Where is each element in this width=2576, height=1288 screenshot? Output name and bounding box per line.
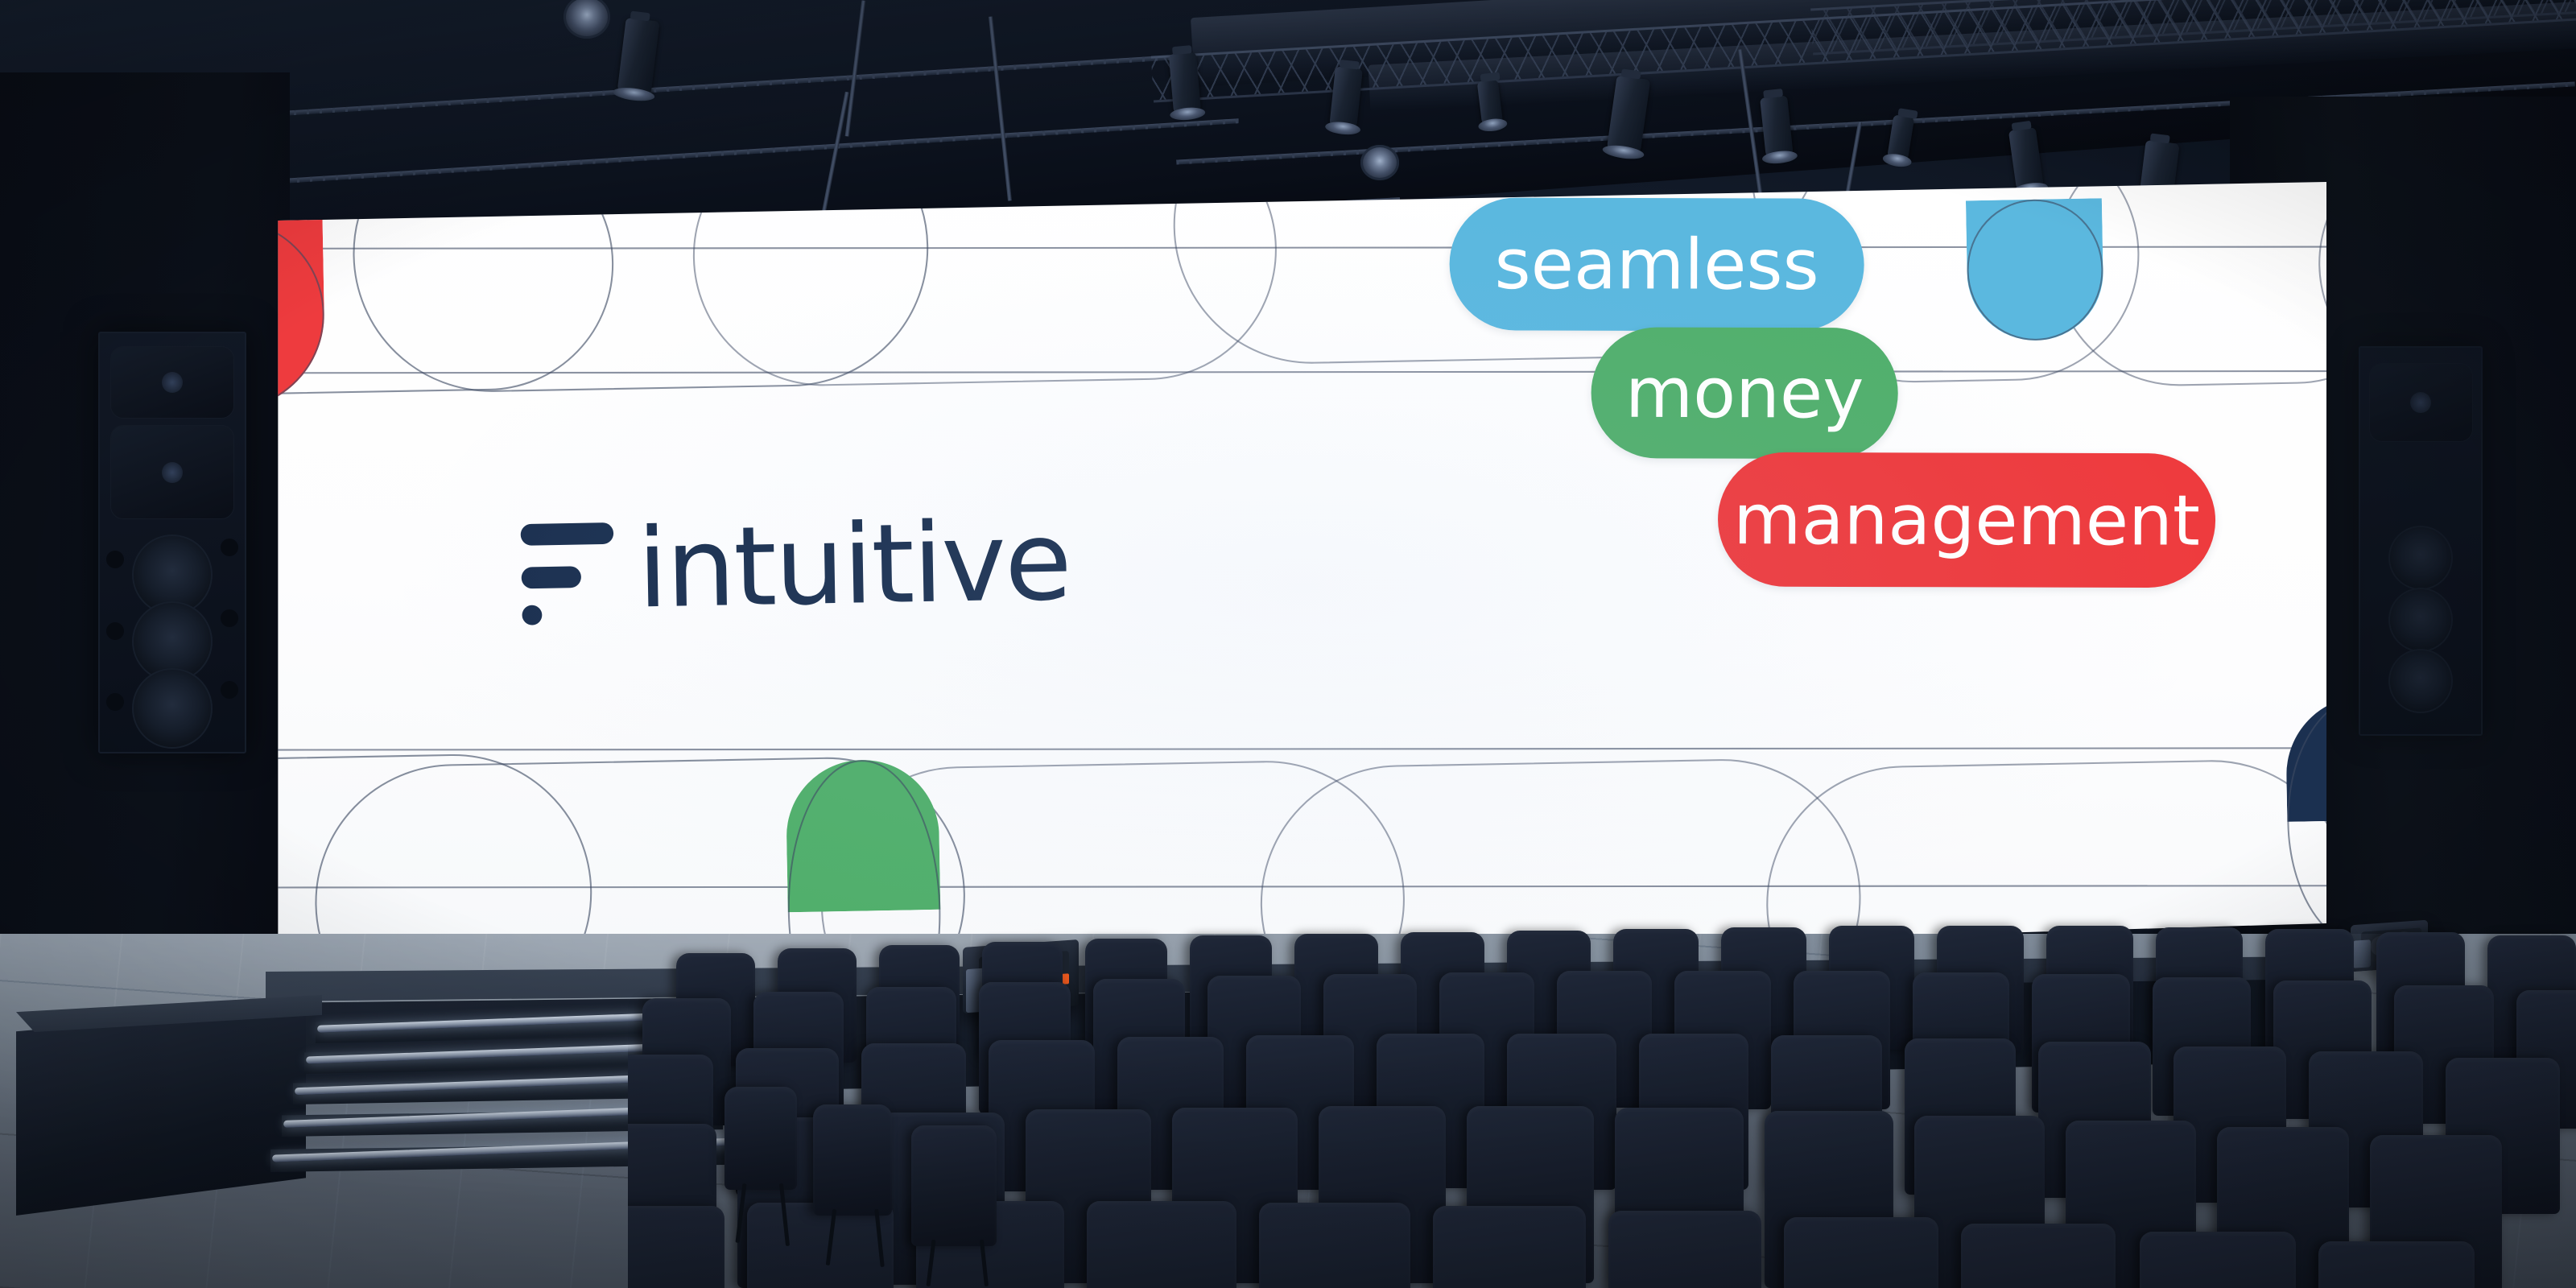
keyword-pill-seamless[interactable]: seamless bbox=[1449, 197, 1864, 331]
led-screen-surface: intuitive seamless money management bbox=[266, 179, 2326, 984]
fresnel-light-icon bbox=[1360, 145, 1399, 180]
led-video-wall[interactable]: intuitive seamless money management bbox=[266, 179, 2326, 984]
keyword-pill-money[interactable]: money bbox=[1591, 327, 1898, 459]
decorative-outline-pattern-top bbox=[266, 179, 2326, 186]
decorative-outline-pattern-bottom bbox=[266, 179, 2326, 186]
brand-logo: intuitive bbox=[517, 509, 1071, 625]
stage-scene: intuitive seamless money management bbox=[0, 0, 2576, 1288]
intuitive-logo-mark-icon bbox=[517, 518, 617, 625]
keyword-pill-money-label: money bbox=[1625, 352, 1864, 434]
brand-wordmark: intuitive bbox=[637, 510, 1071, 622]
stage-light-icon bbox=[1169, 52, 1201, 116]
pa-speaker-stack bbox=[98, 332, 246, 753]
keyword-pill-management-label: management bbox=[1733, 479, 2200, 561]
pa-speaker-stack-right bbox=[2359, 346, 2483, 736]
keyword-pill-seamless-label: seamless bbox=[1494, 224, 1818, 306]
keyword-pill-management[interactable]: management bbox=[1718, 452, 2215, 588]
